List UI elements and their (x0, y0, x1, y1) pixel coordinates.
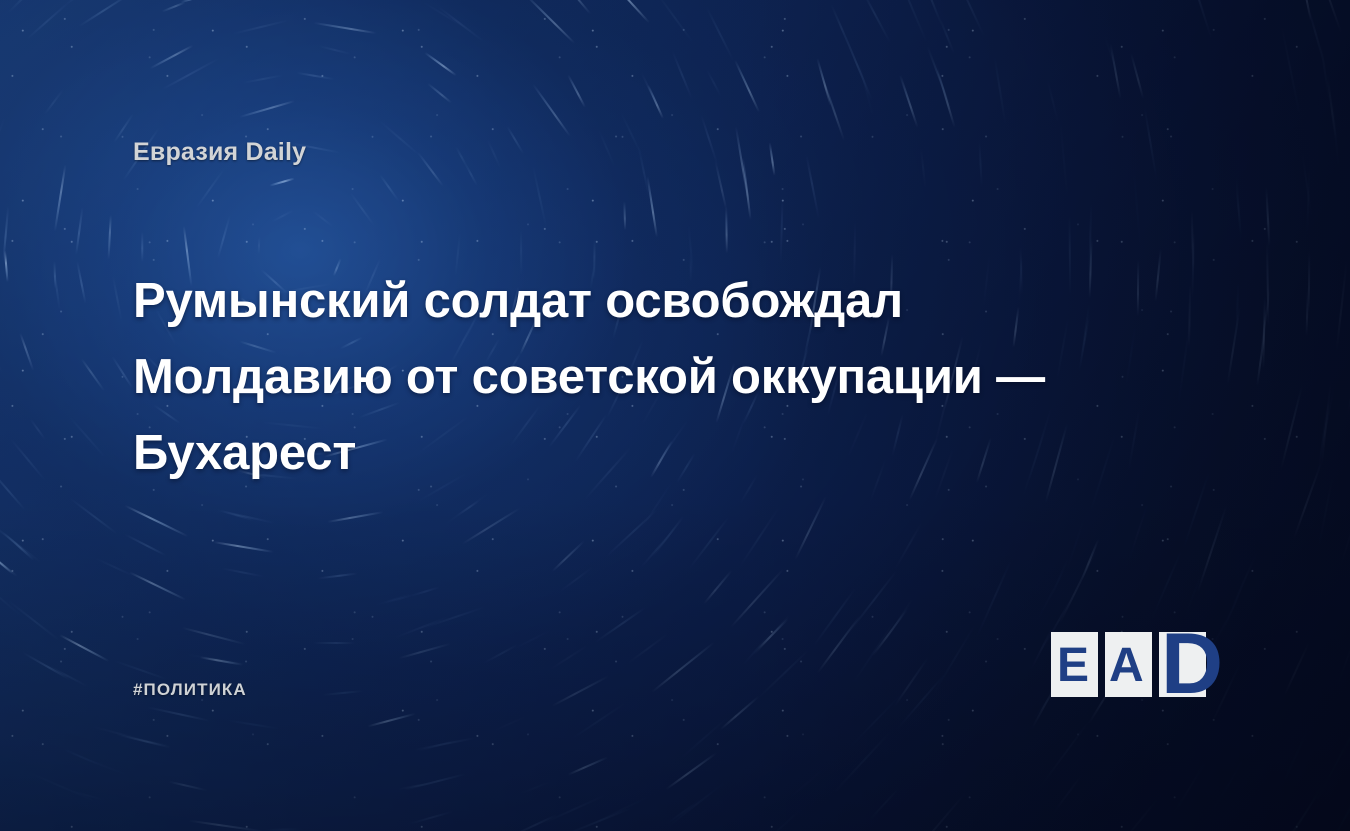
site-logo-text: Евразия Daily (133, 138, 306, 167)
category-tag: #ПОЛИТИКА (133, 680, 247, 700)
brand-letter-d: D (1161, 621, 1221, 707)
brand-letter-e: E (1057, 642, 1089, 690)
brand-letter-a: A (1109, 642, 1144, 690)
eadaily-brand-mark: E A D (1051, 623, 1221, 708)
social-share-card: Евразия Daily Румынский солдат освобожда… (0, 0, 1350, 831)
headline: Румынский солдат освобождал Молдавию от … (133, 263, 1173, 491)
card-content: Евразия Daily Румынский солдат освобожда… (0, 0, 1350, 831)
